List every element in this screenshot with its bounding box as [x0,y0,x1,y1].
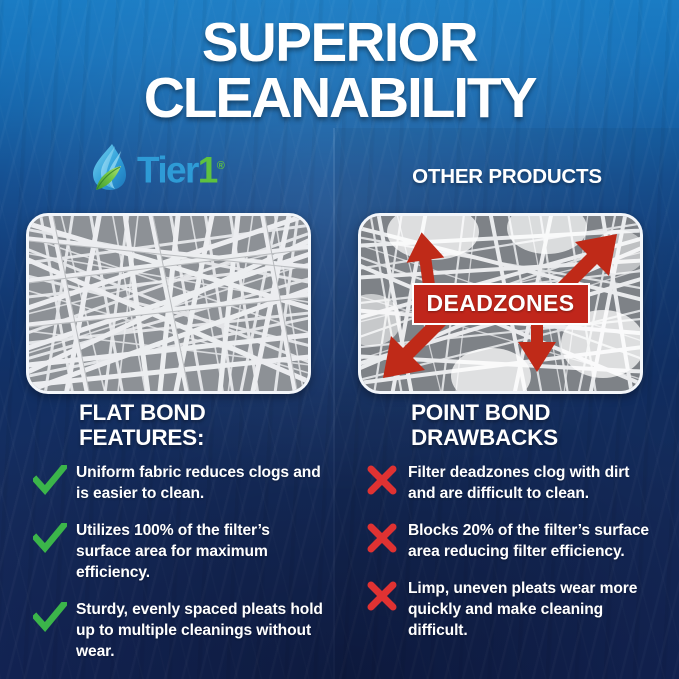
flat-bond-feature-list: Uniform fabric reduces clogs and is easi… [24,462,324,678]
list-item-text: Uniform fabric reduces clogs and is easi… [76,462,324,504]
list-item-text: Limp, uneven pleats wear more quickly an… [408,578,656,641]
list-item: Sturdy, evenly spaced pleats hold up to … [24,599,324,662]
point-bond-image-panel: DEADZONES [358,213,643,394]
logo-trademark: ® [217,160,225,172]
point-bond-heading-line-1: POINT BOND [411,400,558,425]
point-bond-drawback-list: Filter deadzones clog with dirt and are … [356,462,656,657]
page-title: SUPERIOR CLEANABILITY [0,14,679,126]
check-icon [24,462,76,495]
list-item-text: Blocks 20% of the filter’s surface area … [408,520,656,562]
logo-text: Tier [137,149,198,190]
title-line-1: SUPERIOR [0,14,679,70]
list-item: Limp, uneven pleats wear more quickly an… [356,578,656,641]
column-divider [333,128,335,679]
list-item: Uniform fabric reduces clogs and is easi… [24,462,324,504]
flat-bond-heading-line-1: FLAT BOND [79,400,206,425]
deadzones-banner: DEADZONES [411,283,589,325]
water-drop-leaf-icon [88,142,134,192]
point-bond-heading-line-2: DRAWBACKS [411,425,558,450]
logo-number: 1 [198,149,217,190]
cross-icon [356,520,408,553]
list-item: Blocks 20% of the filter’s surface area … [356,520,656,562]
cross-icon [356,462,408,495]
list-item-text: Sturdy, evenly spaced pleats hold up to … [76,599,324,662]
flat-bond-heading: FLAT BOND FEATURES: [79,400,206,450]
list-item: Utilizes 100% of the filter’s surface ar… [24,520,324,583]
list-item-text: Filter deadzones clog with dirt and are … [408,462,656,504]
logo-wordmark: Tier1® [137,148,225,188]
check-icon [24,520,76,553]
competitor-label: OTHER PRODUCTS [335,165,679,189]
check-icon [24,599,76,632]
flat-bond-heading-line-2: FEATURES: [79,425,206,450]
cross-icon [356,578,408,611]
list-item-text: Utilizes 100% of the filter’s surface ar… [76,520,324,583]
title-line-2: CLEANABILITY [0,70,679,126]
flat-bond-image-panel [26,213,311,394]
tier1-logo: Tier1® [88,140,225,194]
flat-bond-fiber-image [29,216,308,391]
point-bond-heading: POINT BOND DRAWBACKS [411,400,558,450]
infographic-page: SUPERIOR CLEANABILITY [0,0,679,679]
list-item: Filter deadzones clog with dirt and are … [356,462,656,504]
